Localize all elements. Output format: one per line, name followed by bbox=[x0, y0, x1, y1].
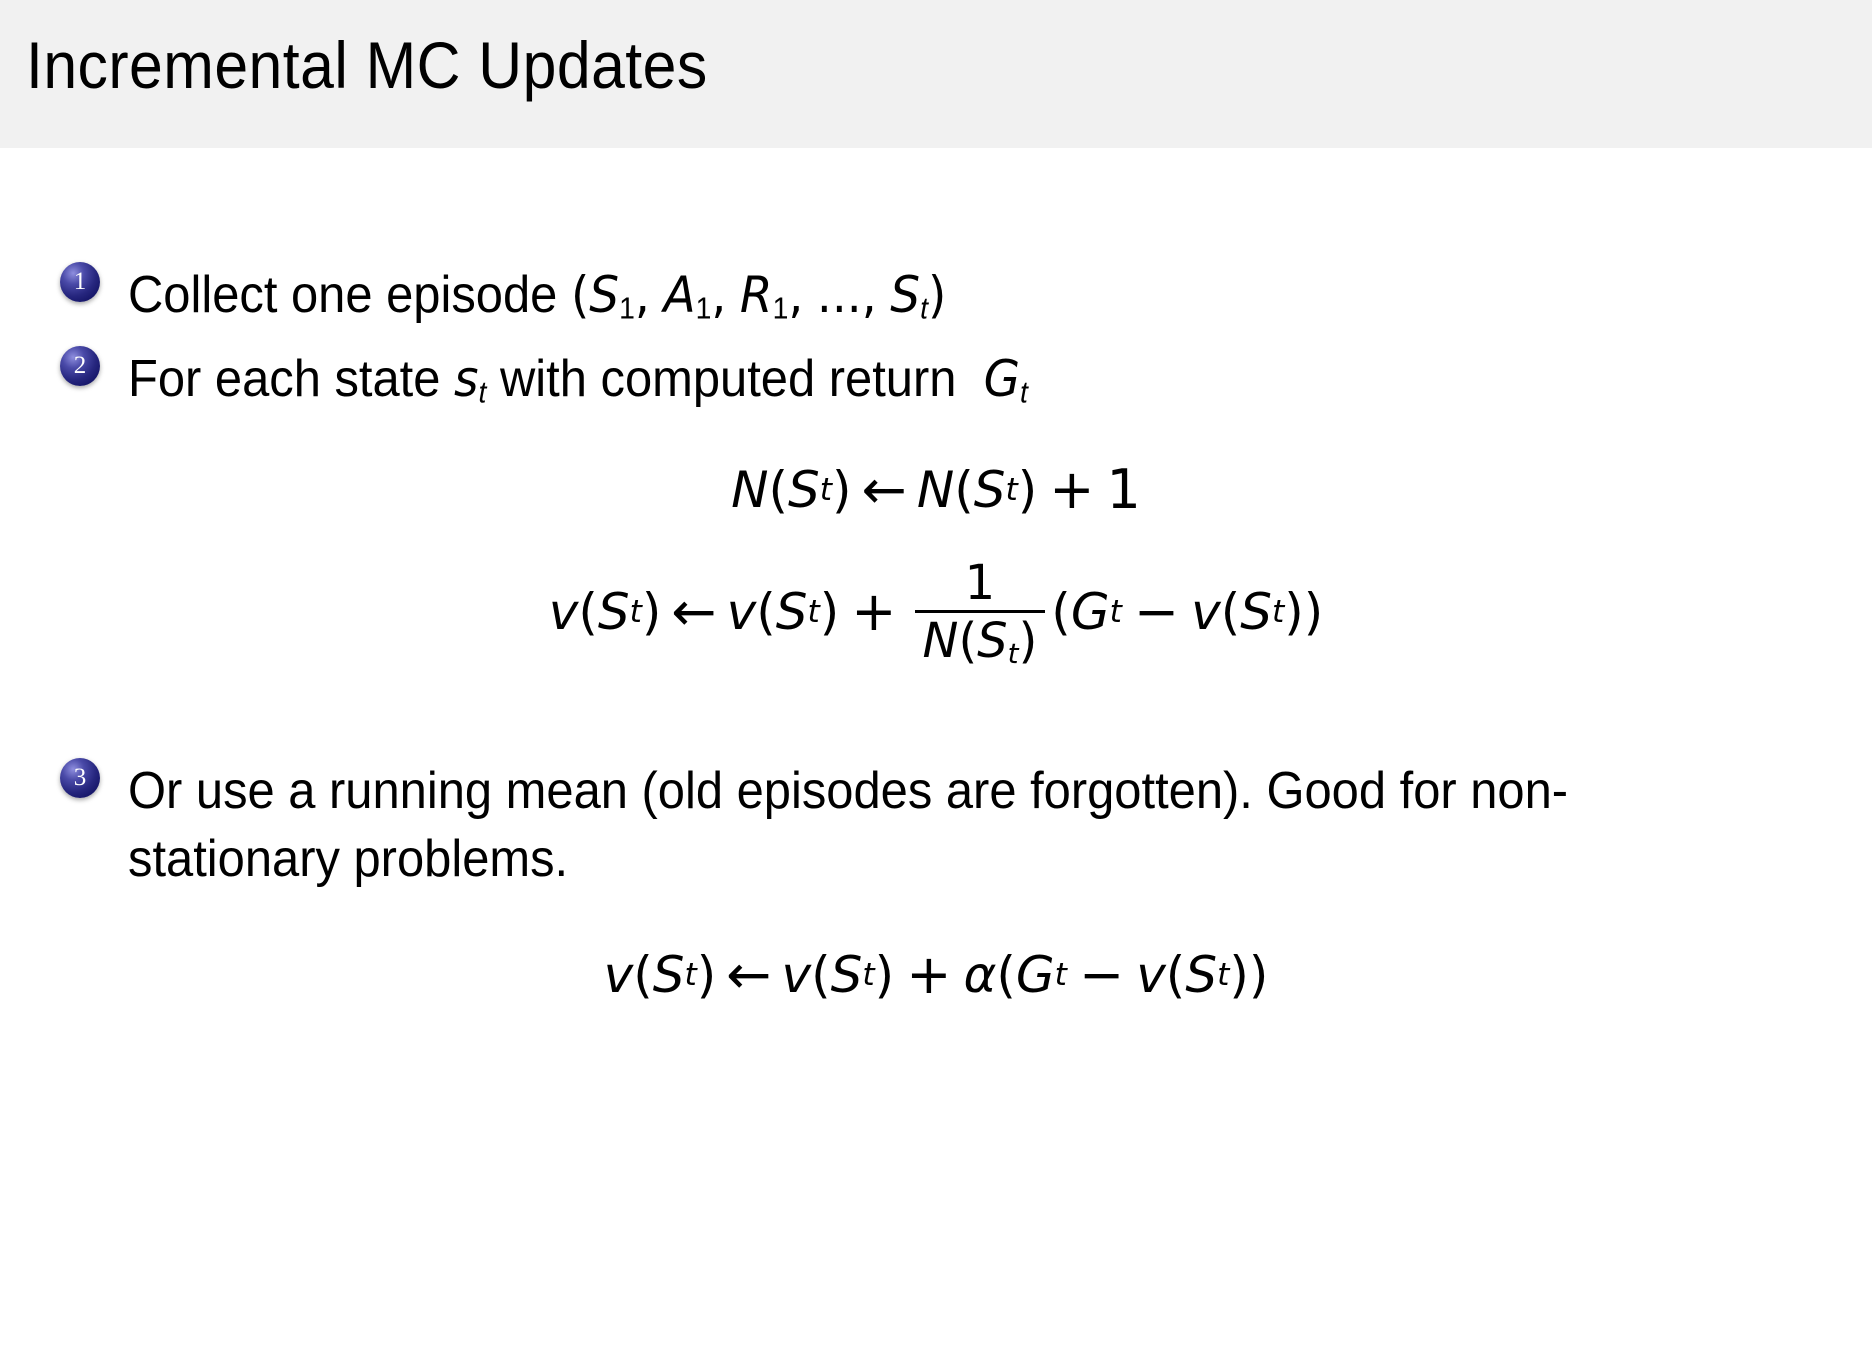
item2-lead-text: For each state bbox=[128, 350, 440, 408]
list-item-text-2: For each state st with computed return G… bbox=[128, 346, 1028, 414]
item1-comma-1: , bbox=[635, 266, 650, 324]
eq1-plus-operator: + bbox=[1037, 458, 1106, 521]
list-item-text-3: Or use a running mean (old episodes are … bbox=[128, 758, 1651, 893]
eq2-lhs-close: ) bbox=[642, 583, 662, 641]
eq2-lhs-sub: t bbox=[630, 594, 642, 630]
item1-sym-st: S bbox=[890, 266, 920, 324]
eq3-lhs-fn: v bbox=[604, 946, 634, 1004]
item1-sub-t: t bbox=[920, 293, 928, 326]
eq1-left-arrow-icon: ← bbox=[852, 458, 917, 521]
item1-sub-1c: 1 bbox=[773, 293, 789, 326]
eq1-constant-one: 1 bbox=[1107, 458, 1141, 521]
item2-return-subscript: t bbox=[1020, 377, 1028, 410]
eq2-return-symbol: G bbox=[1071, 583, 1110, 641]
item1-ellipsis: ... bbox=[817, 266, 862, 324]
eq2-rhs-close: ) bbox=[820, 583, 840, 641]
equation-count-update: N(St) ← N(St) + 1 bbox=[0, 458, 1872, 521]
eq2-lhs-sym: S bbox=[598, 583, 630, 641]
eq1-rhs-sym: S bbox=[974, 461, 1006, 519]
eq1-rhs-open: ( bbox=[954, 461, 974, 519]
eq2-value-fn: v bbox=[1191, 583, 1221, 641]
item1-sub-1a: 1 bbox=[619, 293, 635, 326]
eq3-alpha-symbol: α bbox=[963, 946, 996, 1004]
item1-sym-s1: S bbox=[589, 266, 619, 324]
item1-comma-3: , bbox=[788, 266, 803, 324]
eq3-return-subscript: t bbox=[1055, 957, 1067, 993]
eq2-den-open: ( bbox=[958, 613, 977, 669]
item1-comma-2: , bbox=[711, 266, 726, 324]
eq3-minus-operator: − bbox=[1067, 943, 1136, 1006]
eq1-lhs-open: ( bbox=[769, 461, 789, 519]
eq3-value-fn: v bbox=[1136, 946, 1166, 1004]
eq3-rhs-sub: t bbox=[862, 957, 874, 993]
item1-open-paren: ( bbox=[571, 266, 589, 324]
eq3-error-close-paren: ) bbox=[1249, 946, 1269, 1004]
eq3-value-sub: t bbox=[1217, 957, 1229, 993]
eq1-rhs-close: ) bbox=[1018, 461, 1038, 519]
eq2-den-sub: t bbox=[1008, 638, 1019, 671]
eq3-lhs-sym: S bbox=[653, 946, 685, 1004]
eq1-lhs-fn: N bbox=[731, 461, 768, 519]
item2-return-symbol: G bbox=[984, 350, 1020, 408]
equation-incremental-mean-update: v(St) ← v(St) + 1 N(St) (Gt − v(St)) bbox=[0, 556, 1872, 668]
item1-comma-4: , bbox=[862, 266, 877, 324]
eq2-rhs-open: ( bbox=[756, 583, 776, 641]
eq1-rhs-sub: t bbox=[1005, 472, 1017, 508]
eq1-lhs-sym: S bbox=[788, 461, 820, 519]
eq2-rhs-fn: v bbox=[727, 583, 757, 641]
eq2-lhs-fn: v bbox=[549, 583, 579, 641]
list-item-text-1: Collect one episode (S1, A1, R1, ..., St… bbox=[128, 262, 946, 330]
item1-sym-a1: A bbox=[663, 266, 695, 324]
item2-state-symbol: s bbox=[454, 350, 478, 408]
eq3-plus-operator: + bbox=[894, 943, 963, 1006]
eq2-error-open-paren: ( bbox=[1051, 583, 1071, 641]
eq2-lhs-open: ( bbox=[578, 583, 598, 641]
eq2-fraction-numerator: 1 bbox=[951, 558, 1010, 610]
item1-lead-text: Collect one episode bbox=[128, 266, 557, 324]
eq3-rhs-sym: S bbox=[831, 946, 863, 1004]
eq2-den-close: ) bbox=[1019, 613, 1038, 669]
eq3-return-symbol: G bbox=[1016, 946, 1055, 1004]
bullet-number-3: 3 bbox=[60, 758, 100, 798]
eq2-fraction: 1 N(St) bbox=[915, 558, 1046, 670]
item1-sym-r1: R bbox=[740, 266, 773, 324]
eq2-minus-operator: − bbox=[1122, 580, 1191, 643]
eq2-value-sym: S bbox=[1240, 583, 1272, 641]
eq2-value-open: ( bbox=[1221, 583, 1241, 641]
item1-close-paren: ) bbox=[928, 266, 946, 324]
eq2-return-subscript: t bbox=[1110, 594, 1122, 630]
eq3-value-close: ) bbox=[1229, 946, 1249, 1004]
eq2-plus-operator: + bbox=[839, 580, 908, 643]
eq3-value-sym: S bbox=[1185, 946, 1217, 1004]
item2-mid-text: with computed return bbox=[500, 350, 956, 408]
item1-sub-1b: 1 bbox=[696, 293, 712, 326]
eq2-den-fn: N bbox=[923, 613, 959, 669]
eq3-lhs-open: ( bbox=[633, 946, 653, 1004]
eq3-lhs-sub: t bbox=[684, 957, 696, 993]
eq2-value-sub: t bbox=[1272, 594, 1284, 630]
equation-running-mean-update: v(St) ← v(St) + α(Gt − v(St)) bbox=[0, 943, 1872, 1006]
eq3-rhs-fn: v bbox=[782, 946, 812, 1004]
eq1-lhs-close: ) bbox=[832, 461, 852, 519]
bullet-number-2: 2 bbox=[60, 346, 100, 386]
list-item: 1 Collect one episode (S1, A1, R1, ..., … bbox=[60, 262, 999, 330]
eq3-rhs-open: ( bbox=[811, 946, 831, 1004]
eq2-fraction-denominator: N(St) bbox=[915, 613, 1046, 669]
eq2-left-arrow-icon: ← bbox=[661, 580, 726, 643]
bullet-number-1: 1 bbox=[60, 262, 100, 302]
list-item: 2 For each state st with computed return… bbox=[60, 346, 1085, 414]
slide-content: 1 Collect one episode (S1, A1, R1, ..., … bbox=[0, 148, 1872, 1356]
eq1-lhs-sub: t bbox=[820, 472, 832, 508]
eq3-rhs-close: ) bbox=[875, 946, 895, 1004]
eq1-rhs-fn: N bbox=[917, 461, 954, 519]
slide-header-bar: Incremental MC Updates bbox=[0, 0, 1872, 148]
eq2-value-close: ) bbox=[1284, 583, 1304, 641]
eq3-lhs-close: ) bbox=[697, 946, 717, 1004]
eq3-error-open-paren: ( bbox=[996, 946, 1016, 1004]
eq2-rhs-sub: t bbox=[807, 594, 819, 630]
eq3-value-open: ( bbox=[1166, 946, 1186, 1004]
eq2-den-sym: S bbox=[977, 613, 1007, 669]
list-item: 3 Or use a running mean (old episodes ar… bbox=[60, 758, 1748, 893]
eq2-error-close-paren: ) bbox=[1304, 583, 1324, 641]
page-title: Incremental MC Updates bbox=[26, 27, 708, 103]
eq2-rhs-sym: S bbox=[776, 583, 808, 641]
eq3-left-arrow-icon: ← bbox=[716, 943, 781, 1006]
